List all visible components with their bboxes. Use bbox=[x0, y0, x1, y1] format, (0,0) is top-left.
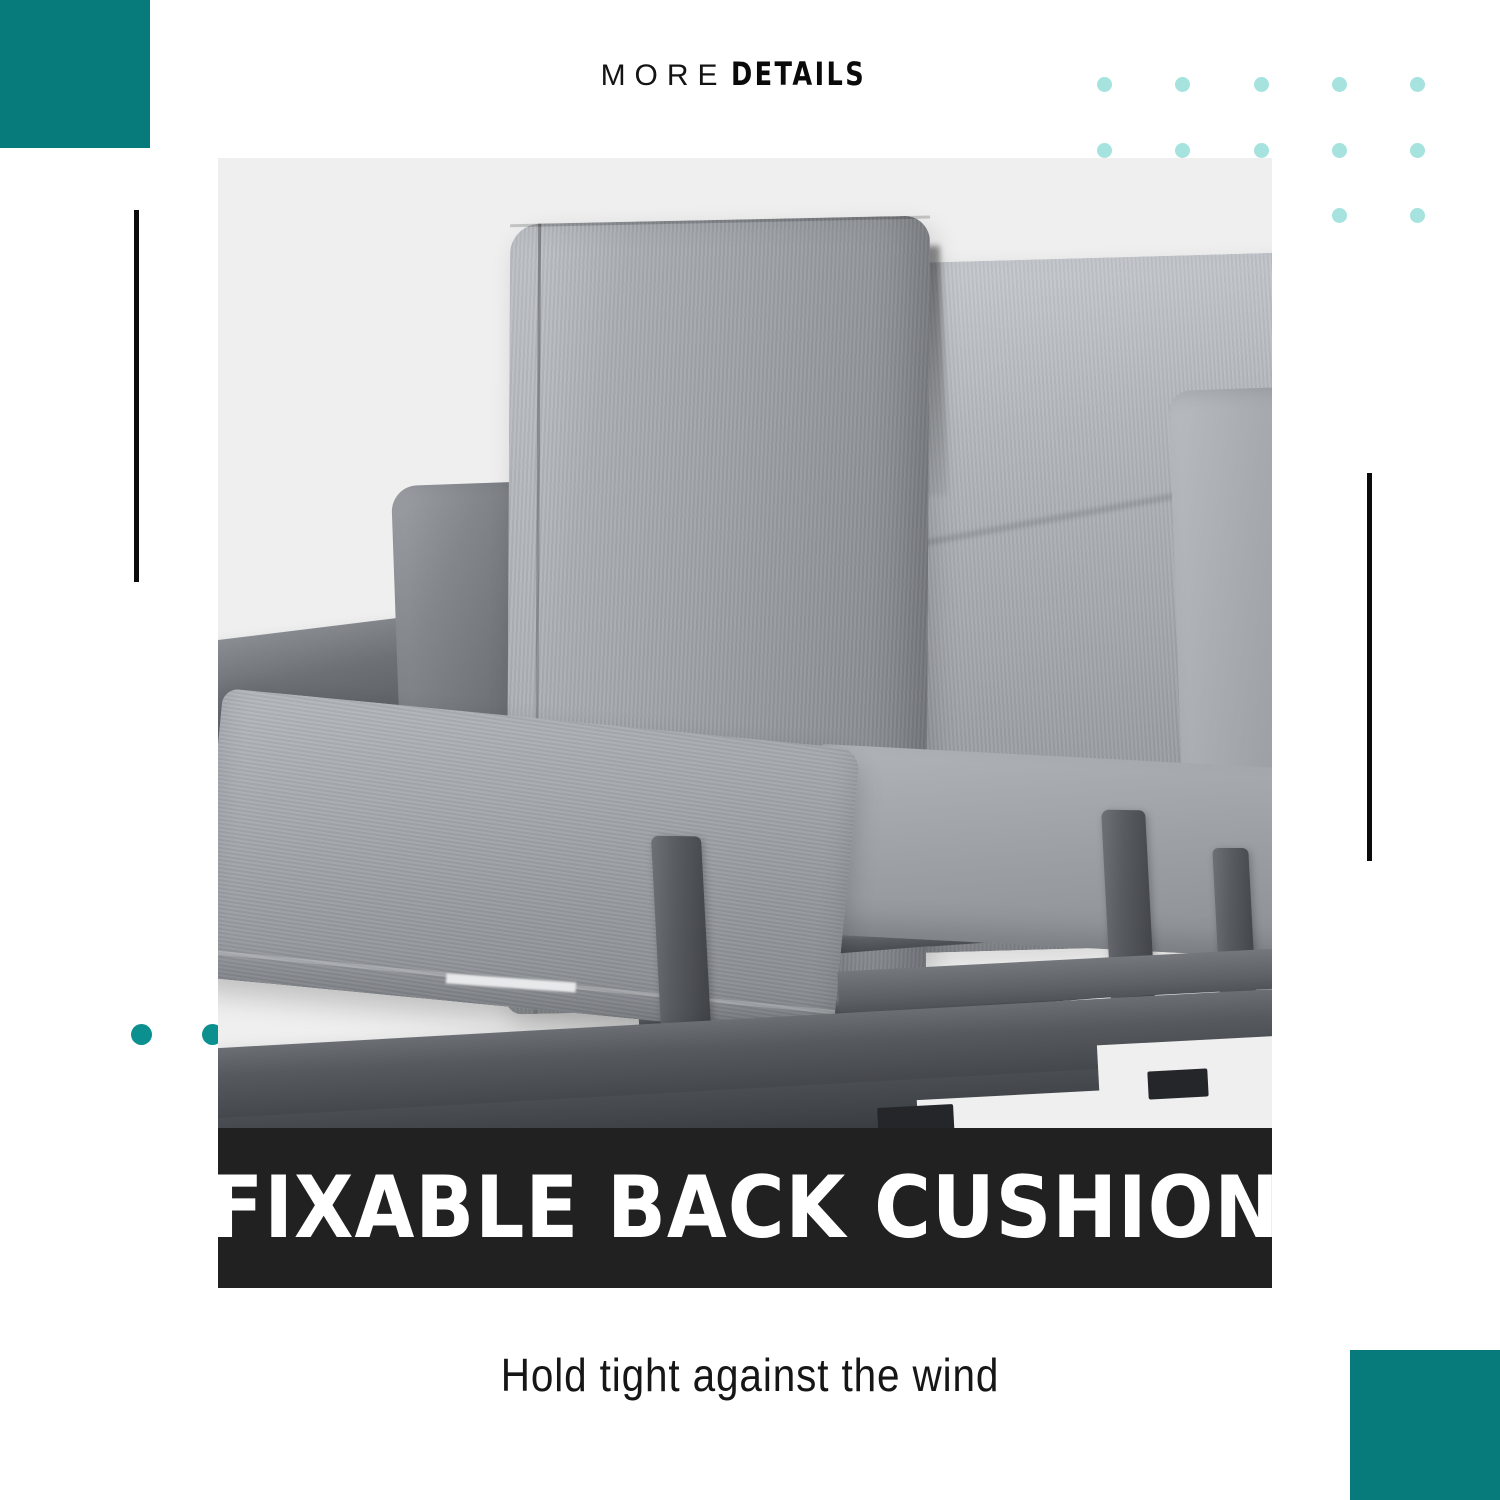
page-title-bold-word: DETAILS bbox=[731, 58, 866, 90]
product-photo-card: FIXABLE BACK CUSHION bbox=[218, 158, 1272, 1288]
cushion-top-seam bbox=[510, 215, 930, 227]
grid-dot-icon bbox=[1410, 77, 1425, 92]
vertical-rule-right bbox=[1367, 473, 1372, 861]
grid-dot-icon bbox=[1254, 77, 1269, 92]
caption-title: FIXABLE BACK CUSHION bbox=[218, 1165, 1272, 1251]
accent-dot-icon bbox=[131, 1024, 152, 1045]
grid-dot-icon bbox=[1097, 143, 1112, 158]
grid-dot-icon bbox=[1410, 143, 1425, 158]
product-photo bbox=[218, 158, 1272, 1128]
grid-dot-icon bbox=[1175, 77, 1190, 92]
grid-dot-icon bbox=[1332, 208, 1347, 223]
right-seat-cushion bbox=[813, 744, 1272, 962]
page-title-light-word: MORE bbox=[601, 59, 727, 92]
frame-foot bbox=[1147, 1068, 1208, 1099]
grid-dot-icon bbox=[1332, 143, 1347, 158]
subtitle-text: Hold tight against the wind bbox=[90, 1348, 1410, 1402]
grid-dot-icon bbox=[1097, 77, 1112, 92]
vertical-rule-left bbox=[134, 210, 139, 582]
frame-foot bbox=[877, 1104, 955, 1128]
caption-bar: FIXABLE BACK CUSHION bbox=[218, 1128, 1272, 1288]
grid-dot-icon bbox=[1175, 143, 1190, 158]
grid-dot-icon bbox=[1410, 208, 1425, 223]
grid-dot-icon bbox=[1332, 77, 1347, 92]
grid-dot-icon bbox=[1254, 143, 1269, 158]
